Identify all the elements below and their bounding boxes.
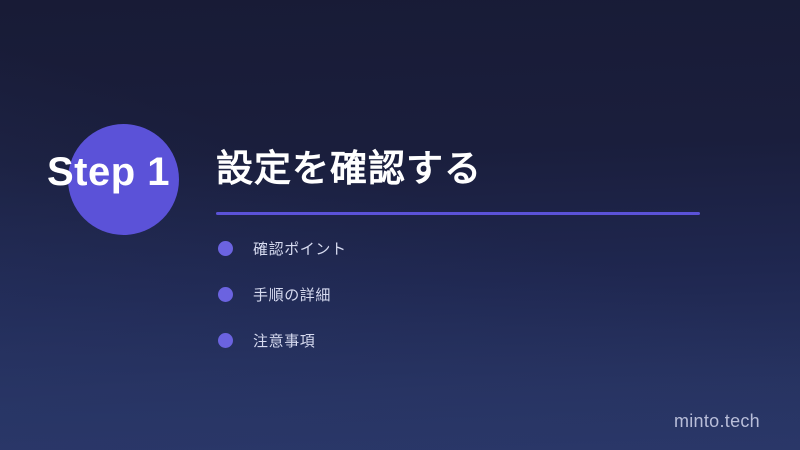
list-item-label: 確認ポイント <box>253 238 347 259</box>
slide-content: Step 1 設定を確認する 確認ポイント 手順の詳細 注意事項 minto.t… <box>0 0 800 450</box>
footer-brand: minto.tech <box>674 411 760 432</box>
list-item: 確認ポイント <box>218 240 347 257</box>
bullet-dot-icon <box>218 241 233 256</box>
bullet-dot-icon <box>218 287 233 302</box>
title-divider <box>216 212 700 215</box>
list-item: 注意事項 <box>218 332 347 349</box>
list-item-label: 注意事項 <box>253 330 315 351</box>
list-item: 手順の詳細 <box>218 286 347 303</box>
step-badge-label: Step 1 <box>47 152 170 192</box>
slide-canvas: Step 1 設定を確認する 確認ポイント 手順の詳細 注意事項 minto.t… <box>0 0 800 450</box>
page-title: 設定を確認する <box>216 148 482 191</box>
bullet-list: 確認ポイント 手順の詳細 注意事項 <box>218 240 347 349</box>
bullet-dot-icon <box>218 333 233 348</box>
list-item-label: 手順の詳細 <box>253 284 331 305</box>
